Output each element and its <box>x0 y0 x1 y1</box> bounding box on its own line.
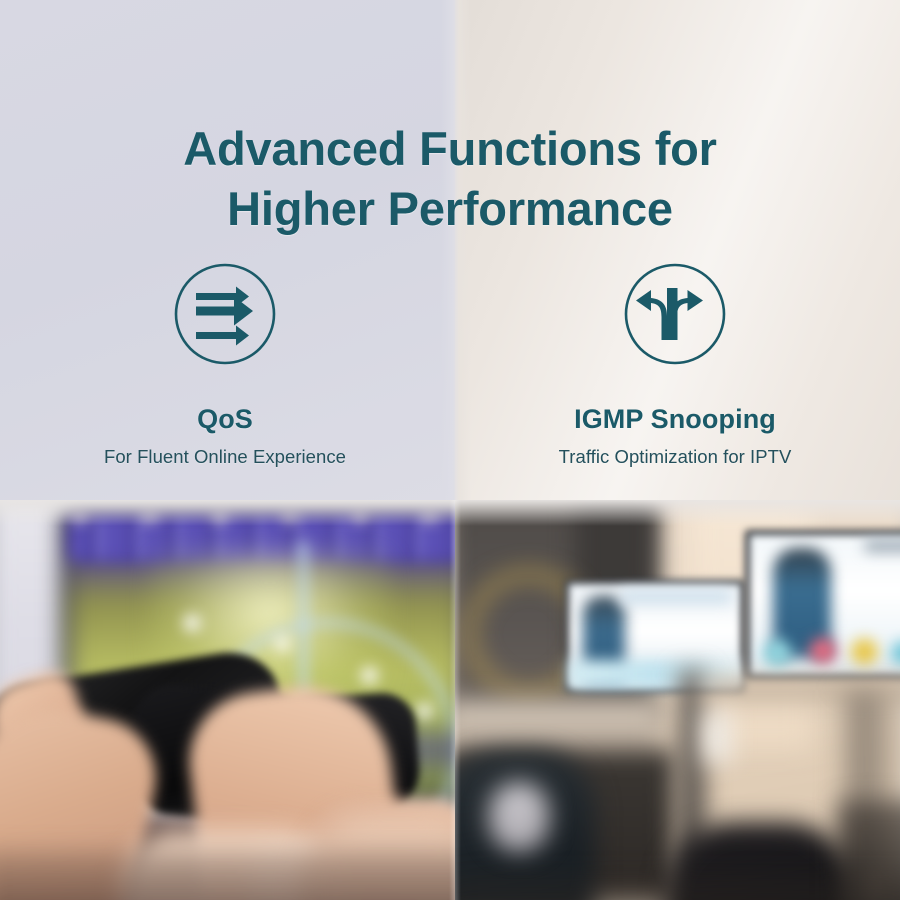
headline-line-2: Higher Performance <box>0 179 900 239</box>
qos-priority-arrows-icon <box>173 262 277 366</box>
feature-qos: QoS For Fluent Online Experience <box>0 262 450 468</box>
photo-strip <box>0 500 900 900</box>
feature-igmp-title: IGMP Snooping <box>574 404 776 435</box>
feature-list: QoS For Fluent Online Experience IGMP Sn… <box>0 262 900 468</box>
feature-igmp-subtitle: Traffic Optimization for IPTV <box>559 446 792 468</box>
headline-line-1: Advanced Functions for <box>0 119 900 179</box>
promo-poster: Advanced Functions for Higher Performanc… <box>0 0 900 900</box>
igmp-branching-arrows-icon <box>623 262 727 366</box>
retail-store-iptv-displays-photo <box>455 500 900 900</box>
feature-qos-subtitle: For Fluent Online Experience <box>104 446 346 468</box>
feature-qos-title: QoS <box>197 404 253 435</box>
feature-igmp-snooping: IGMP Snooping Traffic Optimization for I… <box>450 262 900 468</box>
page-title: Advanced Functions for Higher Performanc… <box>0 119 900 238</box>
gaming-controller-tv-football-photo <box>0 500 455 900</box>
